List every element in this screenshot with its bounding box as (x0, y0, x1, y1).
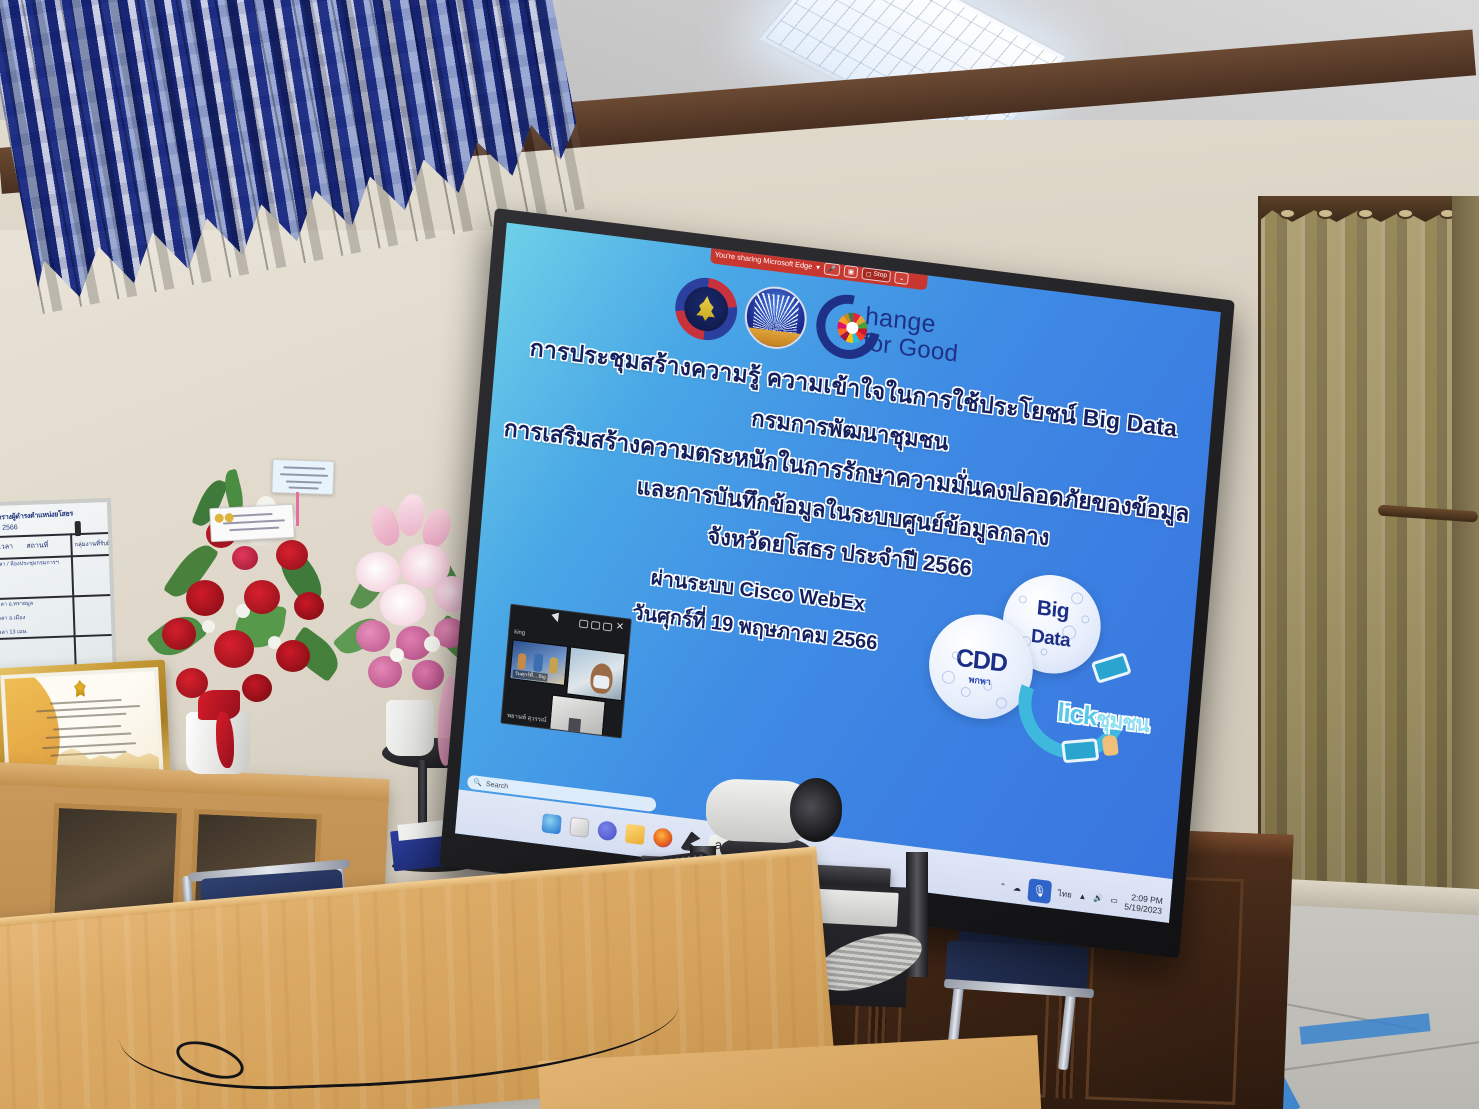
webex-participant-panel[interactable]: ✕ king วันศุกร์ที่... Big (500, 604, 631, 739)
wall-mounted-television: You're sharing Microsoft Edge ▾ 🎤 ▣ ◻ St… (439, 208, 1235, 958)
share-bar-message: You're sharing Microsoft Edge (714, 250, 812, 271)
more-options-button[interactable]: ⌄ (894, 271, 908, 285)
file-explorer-icon[interactable] (625, 823, 645, 844)
volume-icon[interactable]: 🔊 (1093, 893, 1104, 903)
whiteboard-note-3: เวลา อ.เมือง (0, 613, 70, 624)
sdg-color-wheel-icon (836, 311, 868, 345)
search-icon: 🔍 (473, 778, 482, 787)
bigdata-cdd-click-logo-cluster: Big Data CDD พกพา (923, 561, 1186, 771)
start-icon[interactable] (569, 816, 589, 837)
webex-video-tile-3[interactable] (549, 695, 606, 738)
camera-icon: ▣ (848, 267, 855, 276)
stop-sharing-button[interactable]: ◻ Stop (862, 267, 892, 283)
meeting-room-scene: ตารางผู้ดำรงตำแหน่งยโสธร ปี 2566 เวลา สถ… (0, 0, 1479, 1109)
microphone-icon[interactable]: 🎙 (1027, 878, 1052, 904)
microphone-icon: 🎤 (828, 264, 837, 273)
webex-video-tile-2[interactable] (566, 646, 626, 701)
gold-grommet-curtain (1258, 196, 1479, 896)
curtain-right-edge (1452, 196, 1479, 896)
click-tab-lower (1061, 738, 1099, 763)
whiteboard-note-2: เวลา อ.ทรายมูล (0, 599, 70, 610)
mute-button[interactable]: 🎤 (823, 262, 840, 276)
chevron-up-icon[interactable]: ⌃ (999, 882, 1006, 892)
layout-icon[interactable] (579, 619, 589, 628)
change-for-good-logo: hange for Good (814, 291, 962, 373)
cdd-department-seal-icon (673, 274, 740, 344)
grid-view-icon[interactable] (603, 622, 613, 631)
teams-icon[interactable] (597, 820, 617, 841)
stop-icon: ◻ (866, 269, 872, 278)
greeting-card-1 (209, 504, 295, 542)
language-indicator[interactable]: ไทย (1057, 887, 1072, 902)
whiteboard-note-1: เวลา / ห้องประชุมกรมการฯ (0, 559, 68, 570)
copilot-icon[interactable] (541, 813, 561, 834)
hand-pointer-icon (1102, 735, 1119, 756)
mouse-cursor-icon (551, 613, 561, 624)
royal-thai-emblem-icon (73, 680, 88, 698)
stop-label: Stop (873, 271, 887, 280)
webex-bottom-name: พยานพ์ สุวรรณ์ (507, 710, 547, 725)
video-button[interactable]: ▣ (843, 264, 858, 278)
firefox-icon[interactable] (653, 827, 673, 848)
search-placeholder: Search (486, 780, 509, 790)
greeting-card-2 (271, 459, 334, 495)
chevron-down-icon[interactable]: ▾ (816, 262, 820, 271)
wifi-icon[interactable]: ▲ (1078, 892, 1087, 902)
webex-tile-label: วันศุกร์ที่... Big (512, 669, 548, 681)
expand-icon[interactable] (591, 621, 601, 630)
webex-self-name: king (514, 629, 525, 636)
whiteboard-col-time: เวลา (0, 541, 13, 553)
weather-icon[interactable]: ☁ (1013, 883, 1022, 893)
click-word-latin: lick (1056, 697, 1098, 732)
whiteboard-col-group: กลุ่มงานที่รับผิดชอบ (74, 537, 117, 549)
click-word-thai: ชุมชน (1095, 708, 1149, 737)
webex-video-tile-1[interactable]: วันศุกร์ที่... Big (509, 639, 568, 686)
battery-icon[interactable]: ▭ (1110, 895, 1118, 905)
yasothon-province-seal-icon (742, 283, 809, 353)
whiteboard: ตารางผู้ดำรงตำแหน่งยโสธร ปี 2566 เวลา สถ… (0, 498, 117, 682)
close-icon[interactable]: ✕ (615, 622, 624, 633)
clock[interactable]: 2:09 PM 5/19/2023 (1124, 892, 1163, 916)
change-for-good-c-icon (804, 283, 892, 371)
whiteboard-col-place: สถานที่ (26, 540, 48, 552)
whiteboard-year: ปี 2566 (0, 522, 18, 534)
